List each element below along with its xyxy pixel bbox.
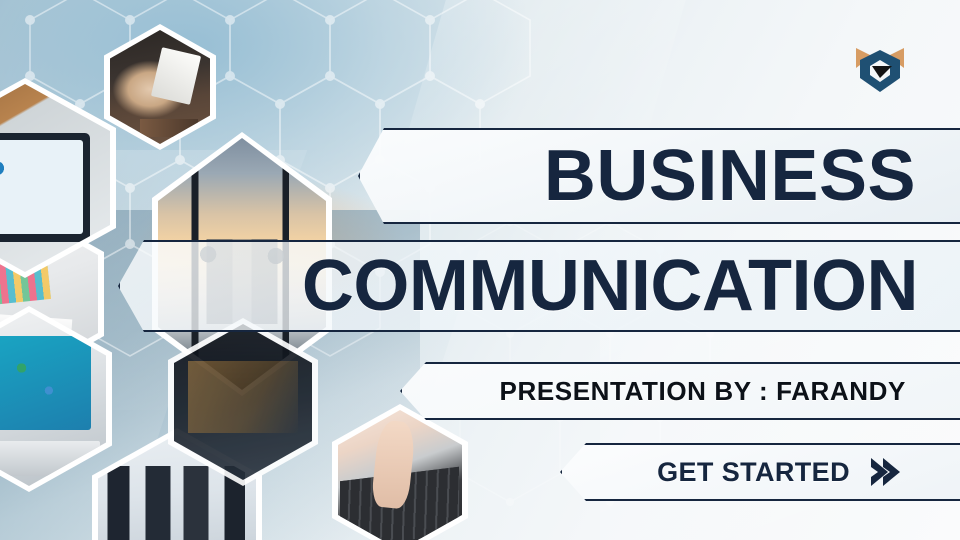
presentation-byline: PRESENTATION BY : FARANDY bbox=[500, 376, 906, 407]
cta-content: GET STARTED bbox=[657, 456, 902, 488]
chevron-right-icon bbox=[868, 456, 902, 488]
title-band-line1: BUSINESS bbox=[358, 128, 960, 224]
get-started-label: GET STARTED bbox=[657, 457, 850, 488]
title-band-line2: COMMUNICATION bbox=[118, 240, 960, 332]
page-title-line1: BUSINESS bbox=[544, 140, 916, 212]
byline-band: PRESENTATION BY : FARANDY bbox=[400, 362, 960, 420]
presentation-slide: BUSINESS COMMUNICATION PRESENTATION BY :… bbox=[0, 0, 960, 540]
page-title-line2: COMMUNICATION bbox=[302, 250, 918, 322]
fox-head-logo bbox=[852, 44, 908, 96]
background-facet bbox=[600, 330, 960, 540]
get-started-button[interactable]: GET STARTED bbox=[560, 443, 960, 501]
